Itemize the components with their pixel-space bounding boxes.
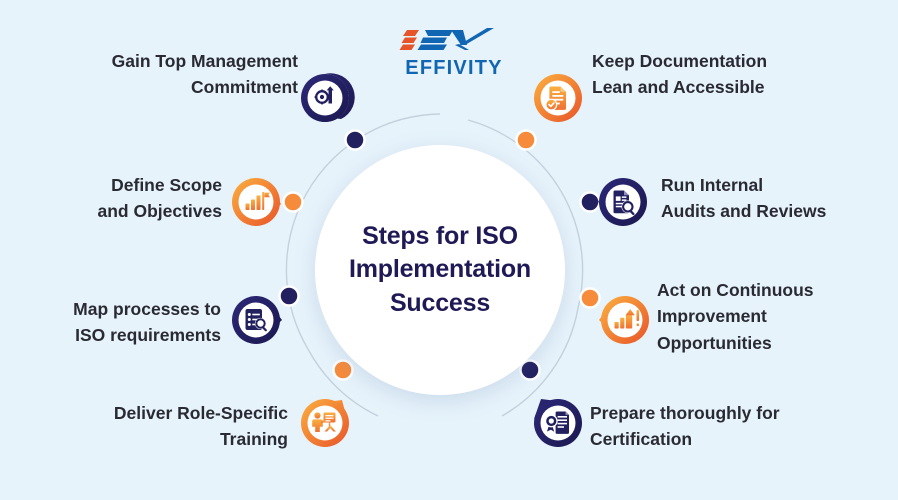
label-line: Define Scope bbox=[30, 172, 222, 198]
label-line: Gain Top Management bbox=[30, 48, 298, 74]
label-line: Opportunities bbox=[657, 330, 887, 356]
label-line: Certification bbox=[590, 426, 850, 452]
step-badge-keep-documentation-lean-and-accessible[interactable] bbox=[533, 73, 583, 123]
step-label-keep-documentation-lean-and-accessible: Keep Documentation Lean and Accessible bbox=[592, 48, 877, 101]
infographic-canvas: EFFIVITY Steps for ISO Implementation Su… bbox=[0, 0, 898, 500]
label-line: Lean and Accessible bbox=[592, 74, 877, 100]
step-label-act-on-continuous-improvement-opportunities: Act on Continuous Improvement Opportunit… bbox=[657, 277, 887, 356]
label-line: Prepare thoroughly for bbox=[590, 400, 850, 426]
step-label-define-scope-and-objectives: Define Scope and Objectives bbox=[30, 172, 222, 225]
step-label-map-processes-to-iso-requirements: Map processes to ISO requirements bbox=[8, 296, 221, 349]
label-line: ISO requirements bbox=[8, 322, 221, 348]
ring-dot-4 bbox=[334, 361, 353, 380]
ring-dot-7 bbox=[581, 289, 600, 308]
step-badge-act-on-continuous-improvement-opportunities[interactable] bbox=[600, 295, 650, 345]
label-line: Improvement bbox=[657, 303, 887, 329]
ring-dot-5 bbox=[517, 131, 536, 150]
ring-dot-2 bbox=[284, 193, 303, 212]
ring-dot-1 bbox=[346, 131, 365, 150]
ring-dot-6 bbox=[581, 193, 600, 212]
ring-dot-8 bbox=[521, 361, 540, 380]
label-line: Act on Continuous bbox=[657, 277, 887, 303]
page-title: Steps for ISO Implementation Success bbox=[333, 220, 548, 320]
step-label-deliver-role-specific-training: Deliver Role-Specific Training bbox=[45, 400, 288, 453]
brand-wordmark: EFFIVITY bbox=[405, 58, 502, 78]
label-line: Run Internal bbox=[661, 172, 886, 198]
label-line: Audits and Reviews bbox=[661, 198, 886, 224]
step-badge-gain-top-management-commitment[interactable] bbox=[300, 73, 350, 123]
step-badge-map-processes-to-iso-requirements[interactable] bbox=[231, 295, 281, 345]
center-hub: Steps for ISO Implementation Success bbox=[315, 145, 565, 395]
ring-dot-3 bbox=[280, 287, 299, 306]
step-badge-define-scope-and-objectives[interactable] bbox=[231, 177, 281, 227]
label-line: Deliver Role-Specific bbox=[45, 400, 288, 426]
step-badge-deliver-role-specific-training[interactable] bbox=[300, 398, 350, 448]
step-badge-prepare-thoroughly-for-certification[interactable] bbox=[533, 398, 583, 448]
label-line: Map processes to bbox=[8, 296, 221, 322]
label-line: Keep Documentation bbox=[592, 48, 877, 74]
step-label-prepare-thoroughly-for-certification: Prepare thoroughly for Certification bbox=[590, 400, 850, 453]
label-line: Commitment bbox=[30, 74, 298, 100]
step-label-gain-top-management-commitment: Gain Top Management Commitment bbox=[30, 48, 298, 101]
ev-checkmark-mark-icon bbox=[395, 26, 513, 56]
label-line: Training bbox=[45, 426, 288, 452]
label-line: and Objectives bbox=[30, 198, 222, 224]
effivity-logo: EFFIVITY bbox=[389, 24, 519, 80]
step-badge-run-internal-audits-and-reviews[interactable] bbox=[598, 177, 648, 227]
step-label-run-internal-audits-and-reviews: Run Internal Audits and Reviews bbox=[661, 172, 886, 225]
